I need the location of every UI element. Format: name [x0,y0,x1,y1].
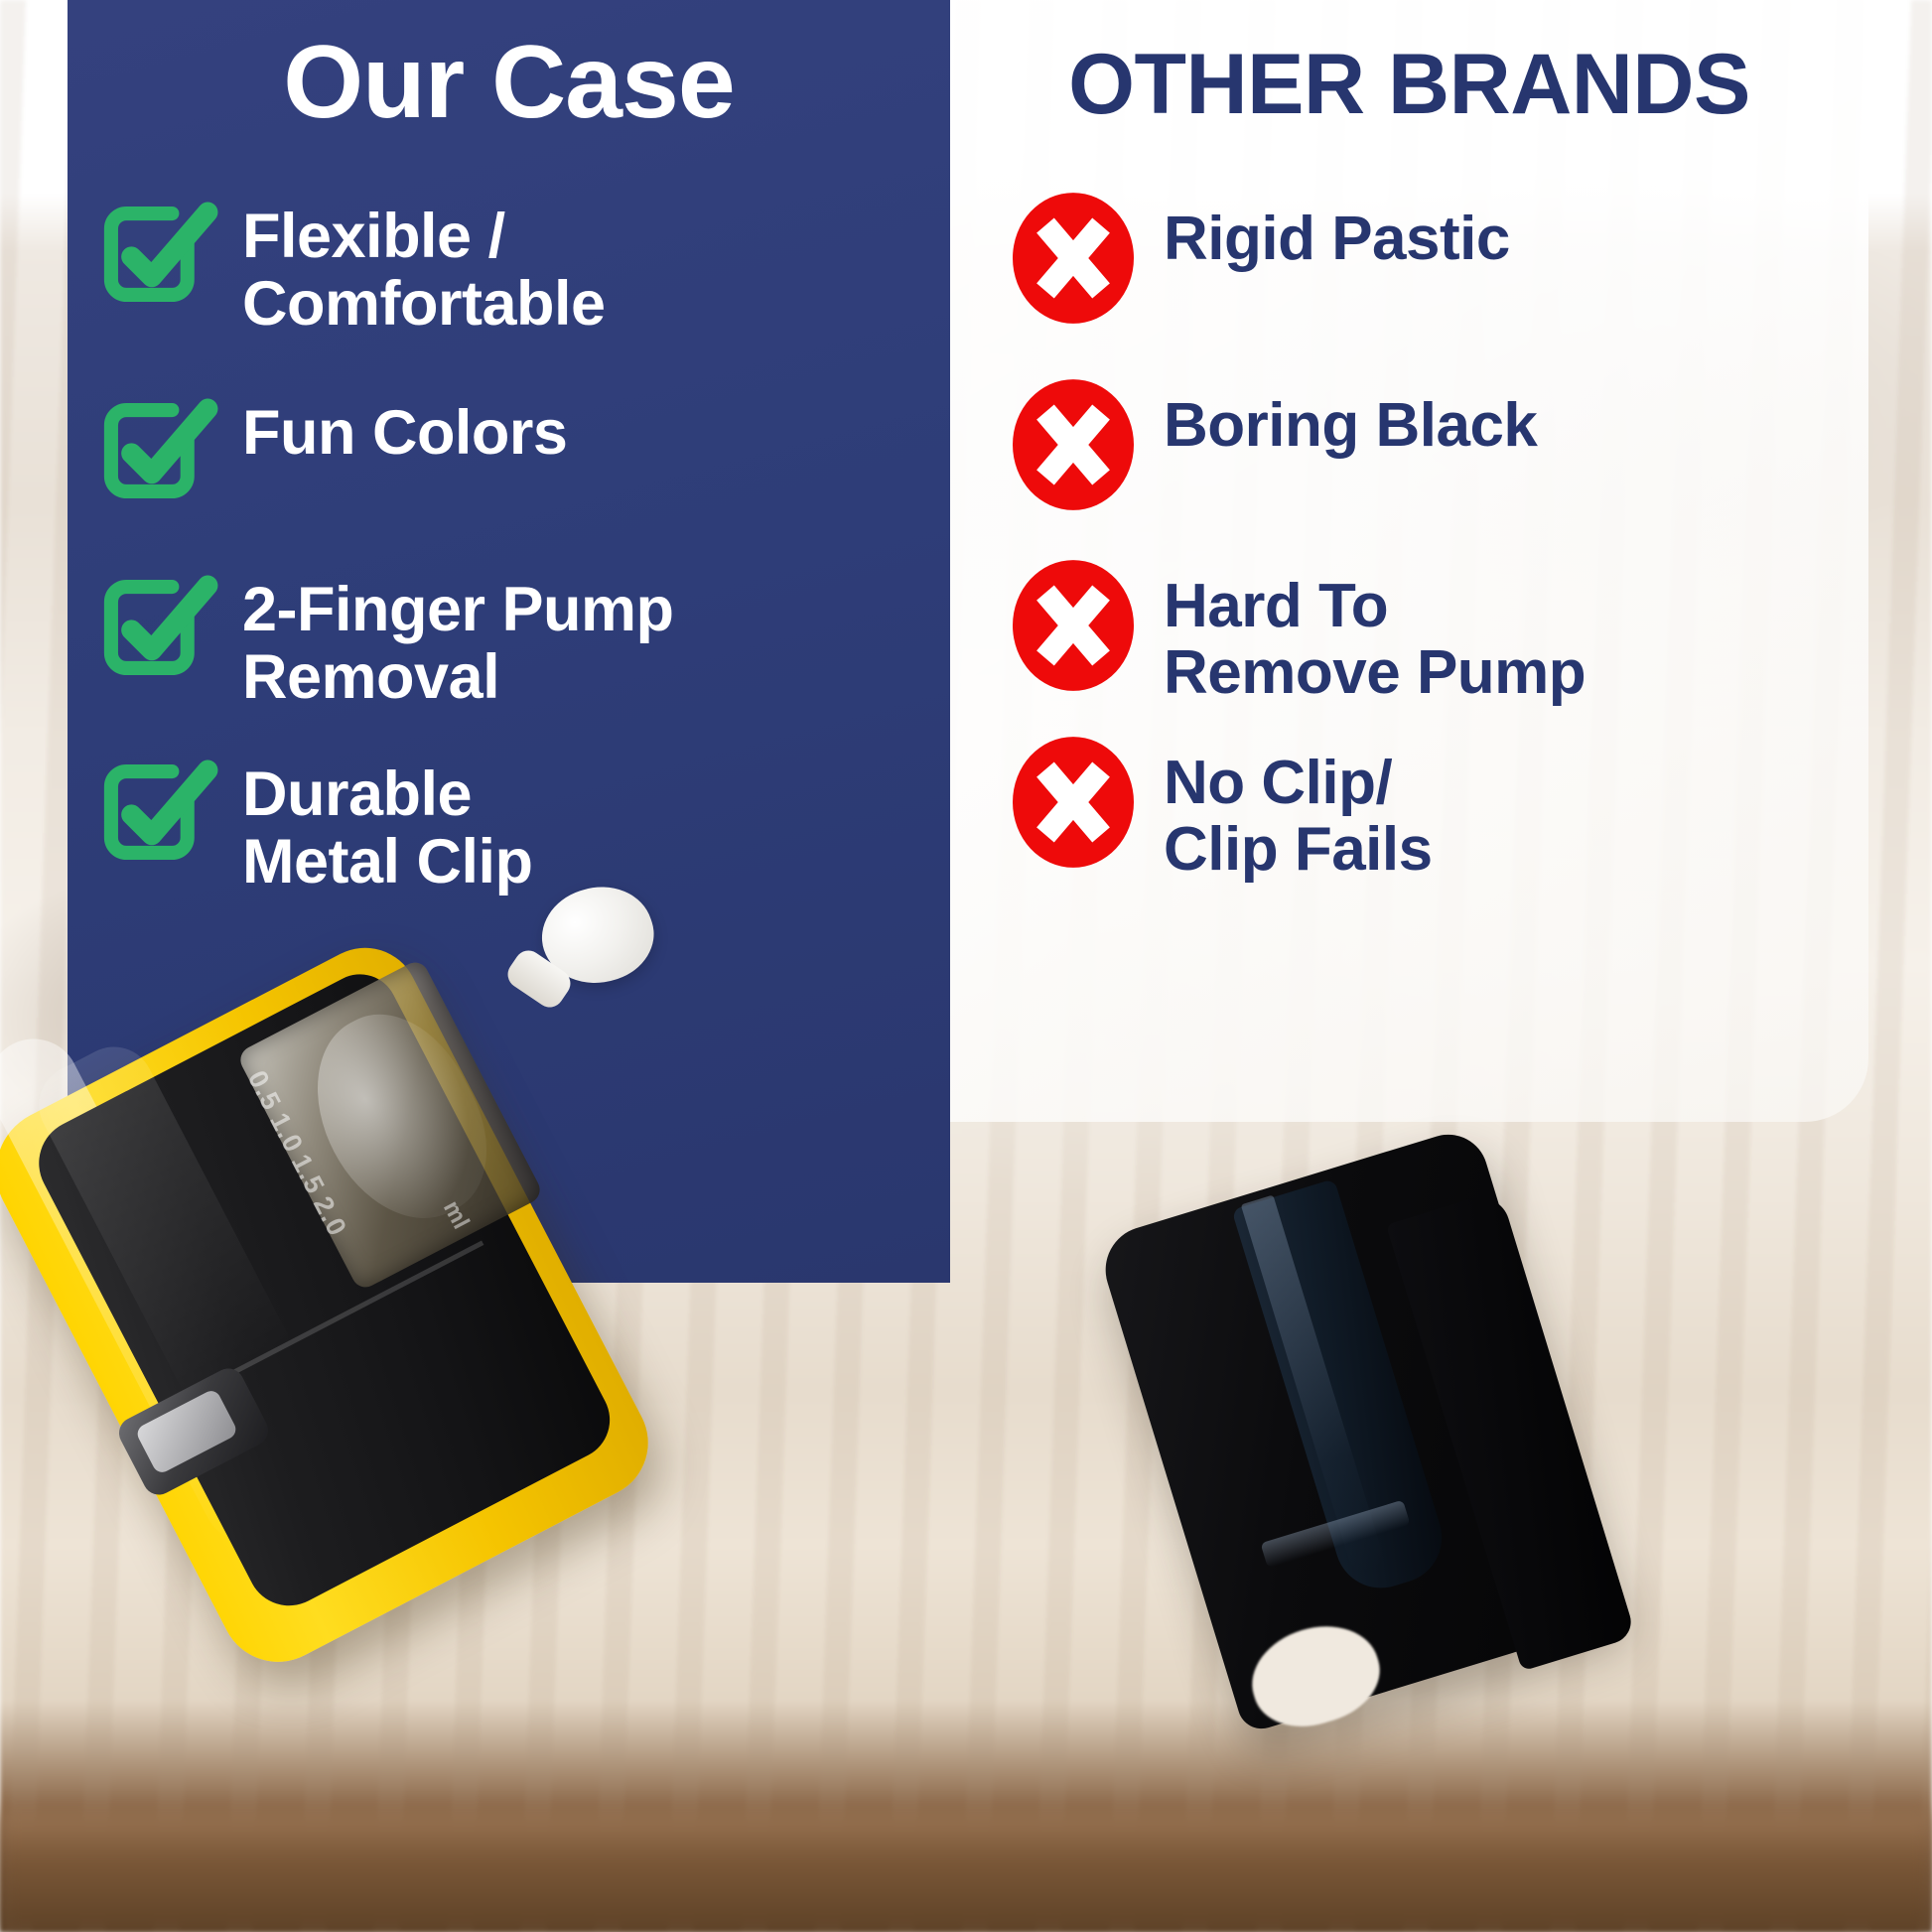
red-x-icon [1013,560,1134,691]
check-box-icon [93,749,220,876]
other-brands-title: OTHER BRANDS [950,40,1868,130]
red-x-icon [1013,737,1134,868]
list-item-label: Fun Colors [242,393,567,467]
list-item: No Clip/ Clip Fails [1013,741,1886,884]
our-case-title: Our Case [68,28,950,137]
list-item-label: Hard To Remove Pump [1164,564,1586,707]
list-item-label: Rigid Pastic [1164,197,1510,273]
list-item: Boring Black [1013,383,1886,510]
list-item-label: No Clip/ Clip Fails [1164,741,1433,884]
list-item: Rigid Pastic [1013,197,1886,324]
list-item-label: 2-Finger Pump Removal [242,570,674,711]
our-case-product-photo: 0.5 1.0 1.5 2.0 ml [60,874,774,1668]
list-item: 2-Finger Pump Removal [93,570,947,711]
list-item-label: Boring Black [1164,383,1537,460]
red-x-icon [1013,379,1134,510]
check-box-icon [93,191,220,318]
list-item: Hard To Remove Pump [1013,564,1886,707]
other-brand-product-photo [1102,1132,1718,1807]
list-item: Flexible / Comfortable [93,197,947,338]
list-item-label: Flexible / Comfortable [242,197,606,338]
check-box-icon [93,564,220,691]
red-x-icon [1013,193,1134,324]
list-item: Fun Colors [93,393,947,514]
check-box-icon [93,387,220,514]
blurred-wood-counter-edge [0,1813,1932,1932]
